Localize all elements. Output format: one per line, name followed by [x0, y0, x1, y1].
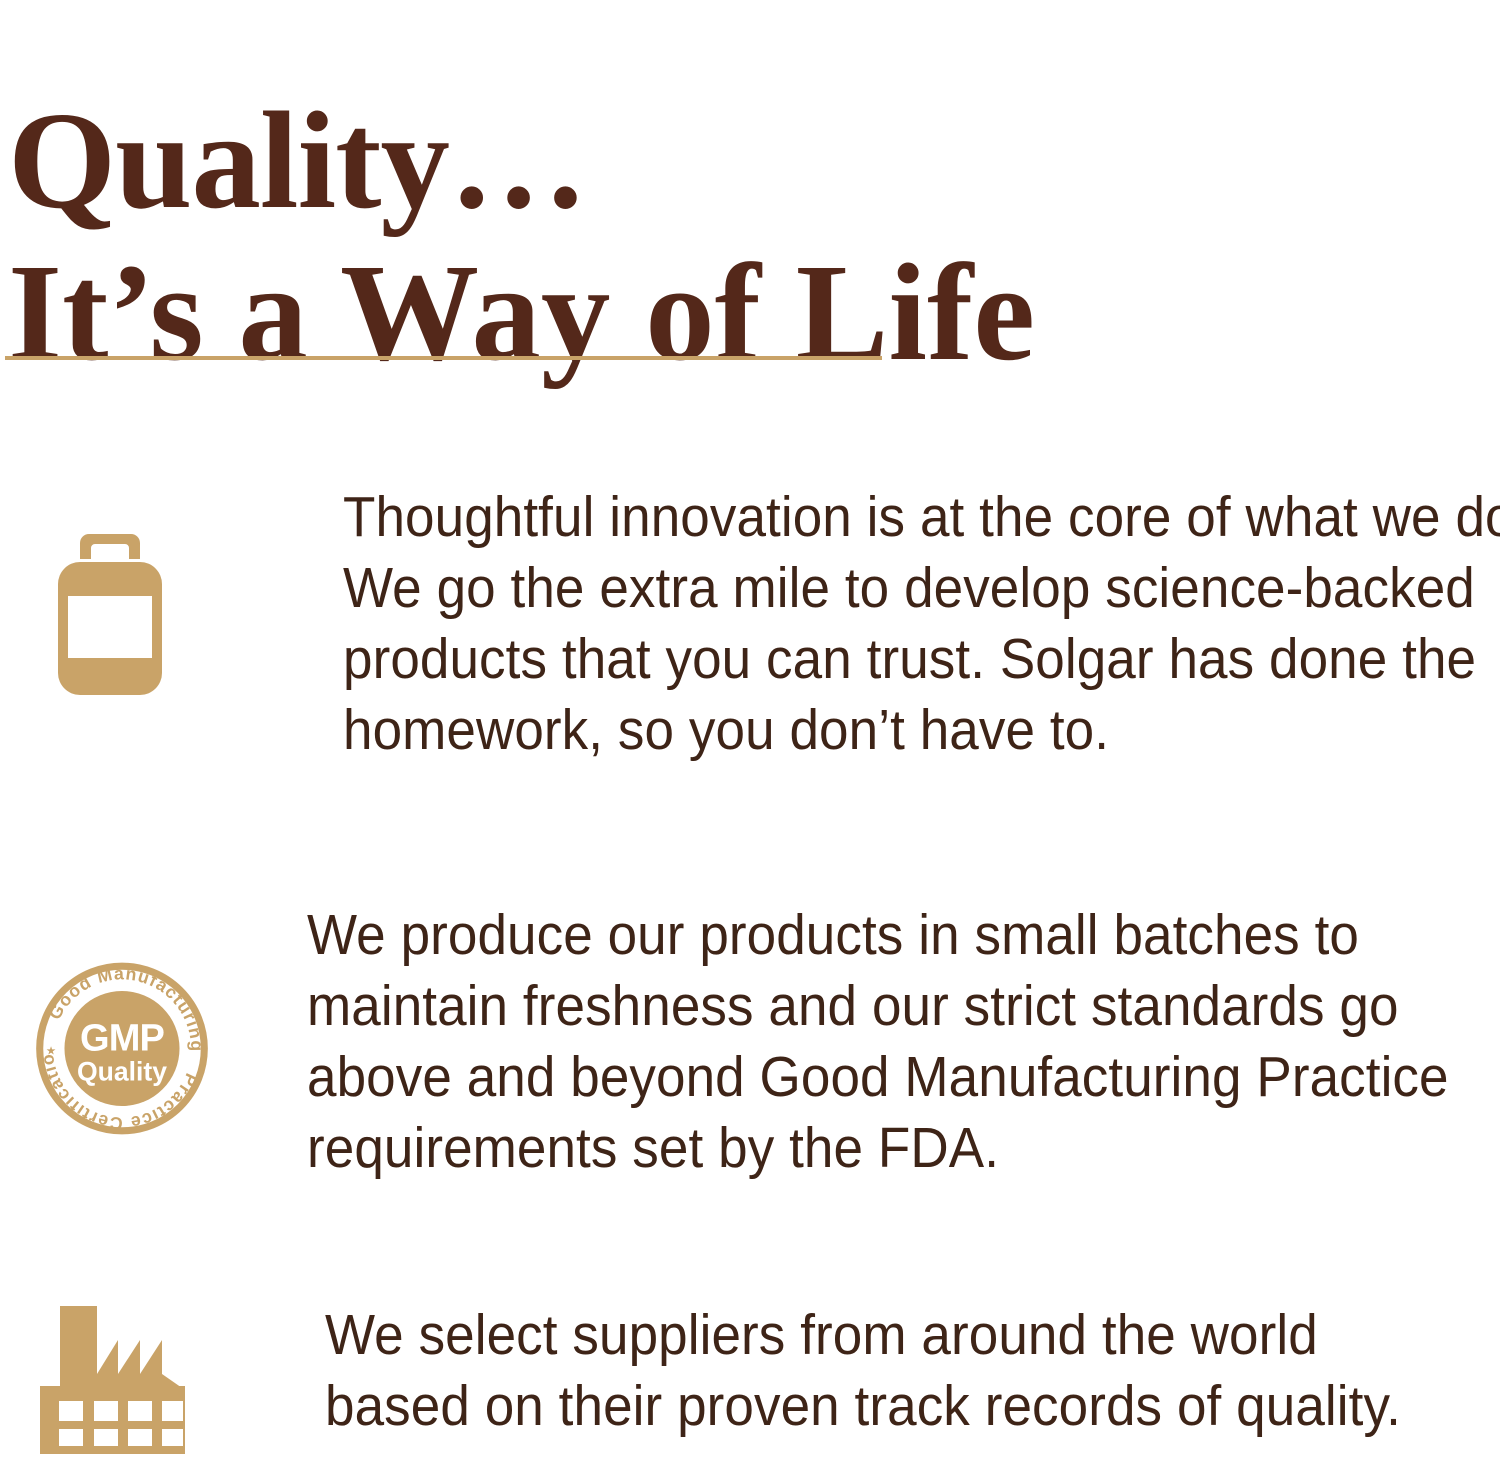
feature-text-suppliers: We select suppliers from around the worl… [325, 1300, 1418, 1442]
feature-text-line: We produce our products in small batches… [307, 900, 1432, 971]
feature-icon-cell [0, 482, 343, 695]
feature-icon-cell [0, 1300, 325, 1457]
horizontal-divider [5, 356, 882, 360]
feature-text-line: We go the extra mile to develop science-… [343, 553, 1468, 624]
gmp-quality-seal-icon: Good Manufacturing Practice Certificatio… [22, 960, 222, 1137]
feature-row-gmp: Good Manufacturing Practice Certificatio… [0, 900, 1500, 1184]
feature-text-line: above and beyond Good Manufacturing Prac… [307, 1042, 1432, 1113]
feature-text-gmp: We produce our products in small batches… [307, 900, 1432, 1184]
feature-text-line: We select suppliers from around the worl… [325, 1300, 1418, 1371]
feature-text-innovation: Thoughtful innovation is at the core of … [343, 482, 1468, 766]
svg-text:Quality: Quality [77, 1056, 167, 1086]
feature-text-line: products that you can trust. Solgar has … [343, 624, 1468, 695]
factory-icon [40, 1302, 195, 1457]
feature-text-line: based on their proven track records of q… [325, 1371, 1418, 1442]
feature-row-suppliers: We select suppliers from around the worl… [0, 1300, 1500, 1457]
feature-text-line: maintain freshness and our strict standa… [307, 971, 1432, 1042]
feature-text-line: homework, so you don’t have to. [343, 695, 1468, 766]
page-title-line-1: Quality… [8, 85, 1308, 237]
svg-text:GMP: GMP [80, 1017, 165, 1059]
supplement-bottle-icon [58, 534, 162, 695]
feature-icon-cell: Good Manufacturing Practice Certificatio… [0, 900, 307, 1137]
feature-text-line: requirements set by the FDA. [307, 1113, 1432, 1184]
page-title-line-2: It’s a Way of Life [8, 237, 1308, 389]
feature-row-innovation: Thoughtful innovation is at the core of … [0, 482, 1500, 766]
svg-text:★: ★ [46, 1044, 56, 1058]
page-title: Quality… It’s a Way of Life [8, 85, 1308, 389]
feature-text-line: Thoughtful innovation is at the core of … [343, 482, 1468, 553]
